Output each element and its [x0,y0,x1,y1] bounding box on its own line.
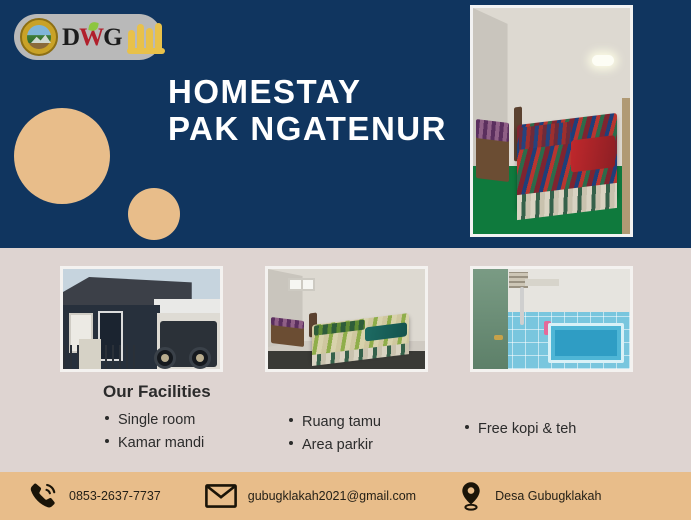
phone-number: 0853-2637-7737 [69,489,161,503]
hero-section: DWG HOMESTAY PAK NGATENUR [0,0,691,248]
photo-house-exterior [60,266,223,372]
photo-guest-bedroom [265,266,428,372]
facility-item: Ruang tamu [289,414,381,430]
facility-label: Single room [118,412,195,428]
facilities-column-3: Free kopi & teh [465,421,576,444]
brand-logo: DWG [14,14,162,60]
logo-wordmark: DWG [62,25,122,50]
ceiling-lamp-icon [592,55,614,66]
bullet-icon [289,418,293,422]
decorative-circle-small [128,188,180,240]
logo-letter-g: G [103,24,121,51]
facilities-column-2: Ruang tamu Area parkir [289,414,381,460]
facility-label: Ruang tamu [302,414,381,430]
phone-icon [28,481,58,511]
bullet-icon [465,425,469,429]
contact-location[interactable]: Desa Gubugklakah [458,481,601,511]
facilities-column-1: Single room Kamar mandi [105,412,204,458]
facility-item: Area parkir [289,437,381,453]
facilities-heading: Our Facilities [103,382,211,402]
location-name: Desa Gubugklakah [495,489,601,503]
contact-footer: 0853-2637-7737 gubugklakah2021@gmail.com… [0,472,691,520]
facility-item: Kamar mandi [105,435,204,451]
logo-letter-d: D [62,24,79,51]
bullet-icon [105,416,109,420]
contact-email[interactable]: gubugklakah2021@gmail.com [205,483,416,509]
village-emblem-icon [20,18,58,56]
title-line-2: PAK NGATENUR [168,111,468,148]
page-title: HOMESTAY PAK NGATENUR [168,74,468,148]
facility-item: Single room [105,412,204,428]
photo-main-bedroom [470,5,633,237]
homestay-flyer: DWG HOMESTAY PAK NGATENUR [0,0,691,520]
calligraphy-icon [127,20,167,54]
photo-bathroom [470,266,633,372]
email-address: gubugklakah2021@gmail.com [248,489,416,503]
contact-phone[interactable]: 0853-2637-7737 [28,481,161,511]
facility-label: Area parkir [302,437,373,453]
facility-label: Free kopi & teh [478,421,576,437]
title-line-1: HOMESTAY [168,74,468,111]
content-section: Our Facilities Single room Kamar mandi R… [0,248,691,472]
bullet-icon [289,441,293,445]
bullet-icon [105,439,109,443]
facility-label: Kamar mandi [118,435,204,451]
map-pin-icon [458,481,484,511]
decorative-circle-large [14,108,110,204]
envelope-icon [205,483,237,509]
facility-item: Free kopi & teh [465,421,576,437]
